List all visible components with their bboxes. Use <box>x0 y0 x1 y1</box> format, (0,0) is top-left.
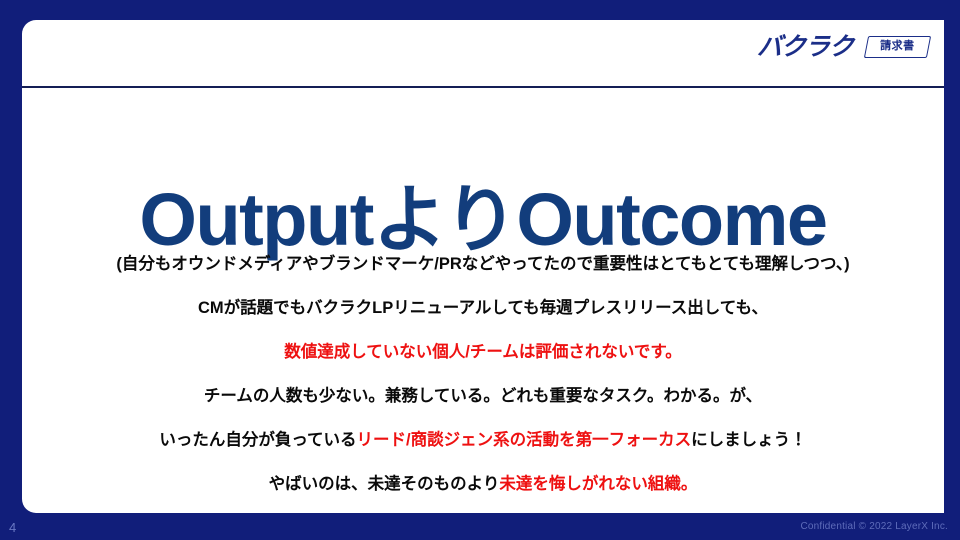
body-text-segment: 数値達成していない個人/チームは評価されないです。 <box>284 344 681 361</box>
body-text-segment: いったん自分が負っている <box>159 432 356 449</box>
body-line-6: やばいのは、未達そのものより未達を悔しがれない組織。 <box>22 462 944 506</box>
page-number: 4 <box>9 521 16 534</box>
brand-lockup: バクラク 請求書 <box>757 34 928 59</box>
body-text-segment: CMが話題でもバクラクLPリニューアルしても毎週プレスリリース出しても、 <box>198 300 768 317</box>
bakuraku-logo: バクラク <box>757 34 854 59</box>
body-text-segment: (自分もオウンドメディアやブランドマーケ/PRなどやってたので重要性はとてもとて… <box>116 256 849 273</box>
product-badge-label: 請求書 <box>880 41 915 52</box>
product-badge-invoice: 請求書 <box>863 36 930 58</box>
header-divider <box>22 86 944 88</box>
body-text-block: (自分もオウンドメディアやブランドマーケ/PRなどやってたので重要性はとてもとて… <box>22 242 944 506</box>
body-line-3: 数値達成していない個人/チームは評価されないです。 <box>22 330 944 374</box>
body-text-segment: リード/商談ジェン系の活動を第一フォーカス <box>357 432 692 449</box>
body-line-4: チームの人数も少ない。兼務している。どれも重要なタスク。わかる。が、 <box>22 374 944 418</box>
confidential-notice: Confidential © 2022 LayerX Inc. <box>800 522 948 532</box>
body-text-segment: にしましょう！ <box>691 432 807 449</box>
slide-content-card: バクラク 請求書 OutputよりOutcome (自分もオウンドメディアやブラ… <box>22 20 944 513</box>
slide-header: バクラク 請求書 <box>22 20 944 86</box>
slide-root: バクラク 請求書 OutputよりOutcome (自分もオウンドメディアやブラ… <box>0 0 960 540</box>
body-text-segment: 未達を悔しがれない組織。 <box>499 476 697 493</box>
body-text-segment: チームの人数も少ない。兼務している。どれも重要なタスク。わかる。が、 <box>204 388 762 405</box>
body-text-segment: やばいのは、未達そのものより <box>269 476 500 493</box>
body-line-1: (自分もオウンドメディアやブランドマーケ/PRなどやってたので重要性はとてもとて… <box>22 242 944 286</box>
body-line-5: いったん自分が負っているリード/商談ジェン系の活動を第一フォーカスにしましょう！ <box>22 418 944 462</box>
body-line-2: CMが話題でもバクラクLPリニューアルしても毎週プレスリリース出しても、 <box>22 286 944 330</box>
